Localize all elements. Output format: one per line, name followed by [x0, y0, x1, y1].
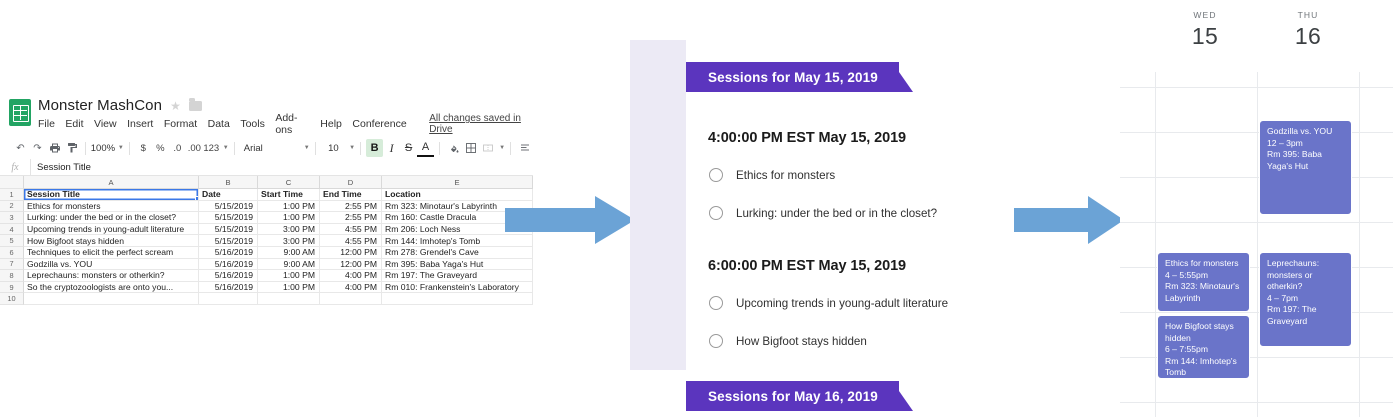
cell-a2[interactable]: Ethics for monsters: [24, 201, 199, 213]
italic-button[interactable]: I: [383, 139, 400, 157]
cell-d5[interactable]: 4:55 PM: [320, 235, 382, 247]
calendar-day-wed[interactable]: WED 15: [1155, 10, 1255, 50]
menu-item-help[interactable]: Help: [320, 118, 342, 130]
cell-b1[interactable]: Date: [199, 189, 258, 201]
cell-b3[interactable]: 5/15/2019: [199, 212, 258, 224]
radio-button-icon[interactable]: [709, 206, 723, 220]
cell-e7[interactable]: Rm 395: Baba Yaga's Hut: [382, 259, 533, 271]
row-number-10[interactable]: 10: [0, 293, 24, 305]
cell-a7[interactable]: Godzilla vs. YOU: [24, 259, 199, 271]
form-option-1-1[interactable]: Ethics for monsters: [686, 168, 920, 182]
zoom-level[interactable]: 100%: [91, 139, 115, 157]
calendar-event-title: How Bigfoot stays hidden: [1165, 321, 1243, 344]
print-icon[interactable]: [46, 139, 63, 157]
cell-b2[interactable]: 5/15/2019: [199, 201, 258, 213]
calendar-event-leprechauns[interactable]: Leprechauns: monsters or otherkin? 4 – 7…: [1259, 252, 1352, 347]
calendar-event-title: Ethics for monsters: [1165, 258, 1243, 270]
save-status[interactable]: All changes saved in Drive: [429, 113, 533, 135]
merge-cells-icon[interactable]: [479, 139, 496, 157]
select-all-corner[interactable]: [0, 176, 24, 189]
bold-button[interactable]: B: [366, 139, 383, 157]
font-chevron-down-icon[interactable]: ▼: [304, 145, 310, 151]
calendar-event-time: 6 – 7:55pm: [1165, 344, 1243, 356]
merge-chevron-down-icon[interactable]: ▼: [499, 145, 505, 151]
zoom-chevron-down-icon[interactable]: ▼: [118, 145, 124, 151]
calendar-event-location: Rm 395: Baba Yaga's Hut: [1267, 149, 1345, 172]
cell-c3[interactable]: 1:00 PM: [258, 212, 320, 224]
font-family-select[interactable]: Arial: [240, 143, 301, 154]
row-number-3[interactable]: 3: [0, 212, 24, 224]
table-row: 9So the cryptozoologists are onto you...…: [0, 282, 533, 294]
row-number-4[interactable]: 4: [0, 224, 24, 236]
table-row-empty: 10: [0, 293, 533, 305]
folder-icon[interactable]: [189, 101, 202, 111]
row-number-7[interactable]: 7: [0, 259, 24, 271]
radio-button-icon[interactable]: [709, 296, 723, 310]
font-size-chevron-down-icon[interactable]: ▼: [349, 145, 355, 151]
menu-item-file[interactable]: File: [38, 118, 55, 130]
cell-b8[interactable]: 5/16/2019: [199, 270, 258, 282]
cell-c8[interactable]: 1:00 PM: [258, 270, 320, 282]
cell-c7[interactable]: 9:00 AM: [258, 259, 320, 271]
sheets-toolbar: ↶ ↷ 100% ▼ $ % .0 .00 123 ▼ Arial ▼ 10 ▼: [0, 137, 533, 159]
form-option-2-1[interactable]: Upcoming trends in young-adult literatur…: [686, 296, 920, 310]
cell-d8[interactable]: 4:00 PM: [320, 270, 382, 282]
calendar-event-time: 12 – 3pm: [1267, 138, 1345, 150]
column-header-e[interactable]: E: [382, 176, 533, 189]
menu-item-insert[interactable]: Insert: [127, 118, 153, 130]
cell-c4[interactable]: 3:00 PM: [258, 224, 320, 236]
calendar-dow-label: WED: [1155, 10, 1255, 20]
menu-item-edit[interactable]: Edit: [65, 118, 83, 130]
calendar-day-thu[interactable]: THU 16: [1258, 10, 1358, 50]
table-row: 6Techniques to elicit the perfect scream…: [0, 247, 533, 259]
table-row: 8Leprechauns: monsters or otherkin?5/16/…: [0, 270, 533, 282]
form-banner-may-15-label: Sessions for May 15, 2019: [708, 70, 878, 85]
cell-c2[interactable]: 1:00 PM: [258, 201, 320, 213]
cell-d9[interactable]: 4:00 PM: [320, 282, 382, 294]
google-sheets-panel: Monster MashCon ★ File Edit View Insert …: [0, 95, 533, 320]
sheets-menubar: File Edit View Insert Format Data Tools …: [38, 115, 533, 133]
cell-c6[interactable]: 9:00 AM: [258, 247, 320, 259]
formula-bar: fx Session Title: [0, 159, 533, 176]
session-time-heading-2: 6:00:00 PM EST May 15, 2019: [686, 258, 920, 274]
form-left-strip: [630, 40, 686, 370]
cell-a5[interactable]: How Bigfoot stays hidden: [24, 235, 199, 247]
sheets-logo-icon: [9, 99, 31, 126]
cell-d3[interactable]: 2:55 PM: [320, 212, 382, 224]
decrease-decimal-button[interactable]: .0: [169, 139, 186, 157]
menu-item-conference[interactable]: Conference: [352, 118, 406, 130]
cell-b5[interactable]: 5/15/2019: [199, 235, 258, 247]
redo-icon[interactable]: ↷: [29, 139, 46, 157]
calendar-day-number: 15: [1155, 23, 1255, 50]
menu-item-data[interactable]: Data: [208, 118, 230, 130]
menu-item-view[interactable]: View: [94, 118, 117, 130]
calendar-event-bigfoot[interactable]: How Bigfoot stays hidden 6 – 7:55pm Rm 1…: [1157, 315, 1250, 379]
cell-b7[interactable]: 5/16/2019: [199, 259, 258, 271]
cell-e10[interactable]: [382, 293, 533, 305]
flow-arrow-left: [505, 196, 635, 244]
google-calendar-panel: WED 15 THU 16 Godzilla vs. YOU 12 – 3pm: [1120, 0, 1393, 417]
calendar-header: WED 15 THU 16: [1120, 0, 1393, 72]
form-option-label: Ethics for monsters: [736, 169, 835, 182]
column-header-c[interactable]: C: [258, 176, 320, 189]
table-row: 7Godzilla vs. YOU5/16/20199:00 AM12:00 P…: [0, 259, 533, 271]
cell-d4[interactable]: 4:55 PM: [320, 224, 382, 236]
flow-arrow-right: [1014, 196, 1124, 244]
spreadsheet-data-rows: 2Ethics for monsters5/15/20191:00 PM2:55…: [0, 201, 533, 294]
document-title[interactable]: Monster MashCon: [38, 97, 162, 114]
calendar-event-ethics[interactable]: Ethics for monsters 4 – 5:55pm Rm 323: M…: [1157, 252, 1250, 312]
star-icon[interactable]: ★: [170, 99, 181, 113]
calendar-event-time: 4 – 5:55pm: [1165, 270, 1243, 282]
align-icon[interactable]: [516, 139, 533, 157]
sheets-titlebar: Monster MashCon ★ File Edit View Insert …: [0, 95, 533, 137]
row-number-1[interactable]: 1: [0, 189, 24, 201]
calendar-event-title: Leprechauns: monsters or otherkin?: [1267, 258, 1345, 293]
row-number-6[interactable]: 6: [0, 247, 24, 259]
cell-c9[interactable]: 1:00 PM: [258, 282, 320, 294]
cell-b10[interactable]: [199, 293, 258, 305]
table-row: 4Upcoming trends in young-adult literatu…: [0, 224, 533, 236]
font-size-input[interactable]: 10: [321, 143, 347, 154]
cell-d6[interactable]: 12:00 PM: [320, 247, 382, 259]
row-number-8[interactable]: 8: [0, 270, 24, 282]
cell-d2[interactable]: 2:55 PM: [320, 201, 382, 213]
table-row: 5How Bigfoot stays hidden5/15/20193:00 P…: [0, 235, 533, 247]
cell-c1[interactable]: Start Time: [258, 189, 320, 201]
cell-d7[interactable]: 12:00 PM: [320, 259, 382, 271]
row-number-5[interactable]: 5: [0, 235, 24, 247]
cell-e9[interactable]: Rm 010: Frankenstein's Laboratory: [382, 282, 533, 294]
cell-e8[interactable]: Rm 197: The Graveyard: [382, 270, 533, 282]
session-time-heading-1: 4:00:00 PM EST May 15, 2019: [686, 130, 920, 146]
column-header-row: A B C D E: [0, 176, 533, 189]
formula-input[interactable]: Session Title: [30, 159, 533, 176]
text-color-button[interactable]: A: [417, 139, 434, 157]
table-row: 2Ethics for monsters5/15/20191:00 PM2:55…: [0, 201, 533, 213]
cell-e6[interactable]: Rm 278: Grendel's Cave: [382, 247, 533, 259]
radio-button-icon[interactable]: [709, 168, 723, 182]
cell-b6[interactable]: 5/16/2019: [199, 247, 258, 259]
fill-color-icon[interactable]: [445, 139, 462, 157]
cell-c10[interactable]: [258, 293, 320, 305]
calendar-grid: Godzilla vs. YOU 12 – 3pm Rm 395: Baba Y…: [1120, 72, 1393, 417]
cell-a10[interactable]: [24, 293, 199, 305]
formats-chevron-down-icon[interactable]: ▼: [223, 145, 229, 151]
calendar-event-location: Rm 197: The Graveyard: [1267, 304, 1345, 327]
table-header-row: 1 Session Title Date Start Time End Time…: [0, 189, 533, 201]
column-header-a[interactable]: A: [24, 176, 199, 189]
form-option-label: How Bigfoot stays hidden: [736, 335, 867, 348]
cell-b4[interactable]: 5/15/2019: [199, 224, 258, 236]
calendar-dow-label: THU: [1258, 10, 1358, 20]
table-row: 3Lurking: under the bed or in the closet…: [0, 212, 533, 224]
column-header-d[interactable]: D: [320, 176, 382, 189]
currency-format-button[interactable]: $: [135, 139, 152, 157]
form-option-label: Lurking: under the bed or in the closet?: [736, 207, 937, 220]
cell-a4[interactable]: Upcoming trends in young-adult literatur…: [24, 224, 199, 236]
form-banner-may-16: Sessions for May 16, 2019: [686, 381, 899, 411]
cell-a9[interactable]: So the cryptozoologists are onto you...: [24, 282, 199, 294]
borders-icon[interactable]: [462, 139, 479, 157]
calendar-event-time: 4 – 7pm: [1267, 293, 1345, 305]
calendar-event-location: Rm 323: Minotaur's Labyrinth: [1165, 281, 1243, 304]
form-option-1-2[interactable]: Lurking: under the bed or in the closet?: [686, 206, 920, 220]
menu-item-addons[interactable]: Add-ons: [275, 112, 309, 136]
form-card: Sessions for May 15, 2019 4:00:00 PM EST…: [686, 40, 920, 370]
calendar-day-number: 16: [1258, 23, 1358, 50]
strikethrough-button[interactable]: S: [400, 139, 417, 157]
menu-item-format[interactable]: Format: [164, 118, 197, 130]
cell-a3[interactable]: Lurking: under the bed or in the closet?: [24, 212, 199, 224]
undo-icon[interactable]: ↶: [12, 139, 29, 157]
cell-a8[interactable]: Leprechauns: monsters or otherkin?: [24, 270, 199, 282]
calendar-event-godzilla[interactable]: Godzilla vs. YOU 12 – 3pm Rm 395: Baba Y…: [1259, 120, 1352, 215]
column-header-b[interactable]: B: [199, 176, 258, 189]
paint-format-icon[interactable]: [63, 139, 80, 157]
cell-a6[interactable]: Techniques to elicit the perfect scream: [24, 247, 199, 259]
calendar-event-title: Godzilla vs. YOU: [1267, 126, 1345, 138]
fx-icon: fx: [0, 162, 30, 173]
row-number-9[interactable]: 9: [0, 282, 24, 294]
cell-b9[interactable]: 5/16/2019: [199, 282, 258, 294]
calendar-event-location: Rm 144: Imhotep's Tomb: [1165, 356, 1243, 379]
row-number-2[interactable]: 2: [0, 201, 24, 213]
form-banner-may-16-label: Sessions for May 16, 2019: [708, 389, 878, 404]
menu-item-tools[interactable]: Tools: [240, 118, 265, 130]
more-formats-button[interactable]: 123: [203, 139, 220, 157]
form-banner-may-15: Sessions for May 15, 2019: [686, 62, 899, 92]
percent-format-button[interactable]: %: [152, 139, 169, 157]
screenshot-stage: Monster MashCon ★ File Edit View Insert …: [0, 0, 1393, 417]
cell-d1[interactable]: End Time: [320, 189, 382, 201]
radio-button-icon[interactable]: [709, 334, 723, 348]
cell-c5[interactable]: 3:00 PM: [258, 235, 320, 247]
spreadsheet-grid: A B C D E 1 Session Title Date Start Tim…: [0, 176, 533, 305]
cell-a1[interactable]: Session Title: [24, 189, 199, 201]
form-option-2-2[interactable]: How Bigfoot stays hidden: [686, 334, 920, 348]
form-option-label: Upcoming trends in young-adult literatur…: [736, 297, 948, 310]
increase-decimal-button[interactable]: .00: [186, 139, 203, 157]
cell-d10[interactable]: [320, 293, 382, 305]
form-panel: Sessions for May 15, 2019 4:00:00 PM EST…: [630, 40, 920, 370]
